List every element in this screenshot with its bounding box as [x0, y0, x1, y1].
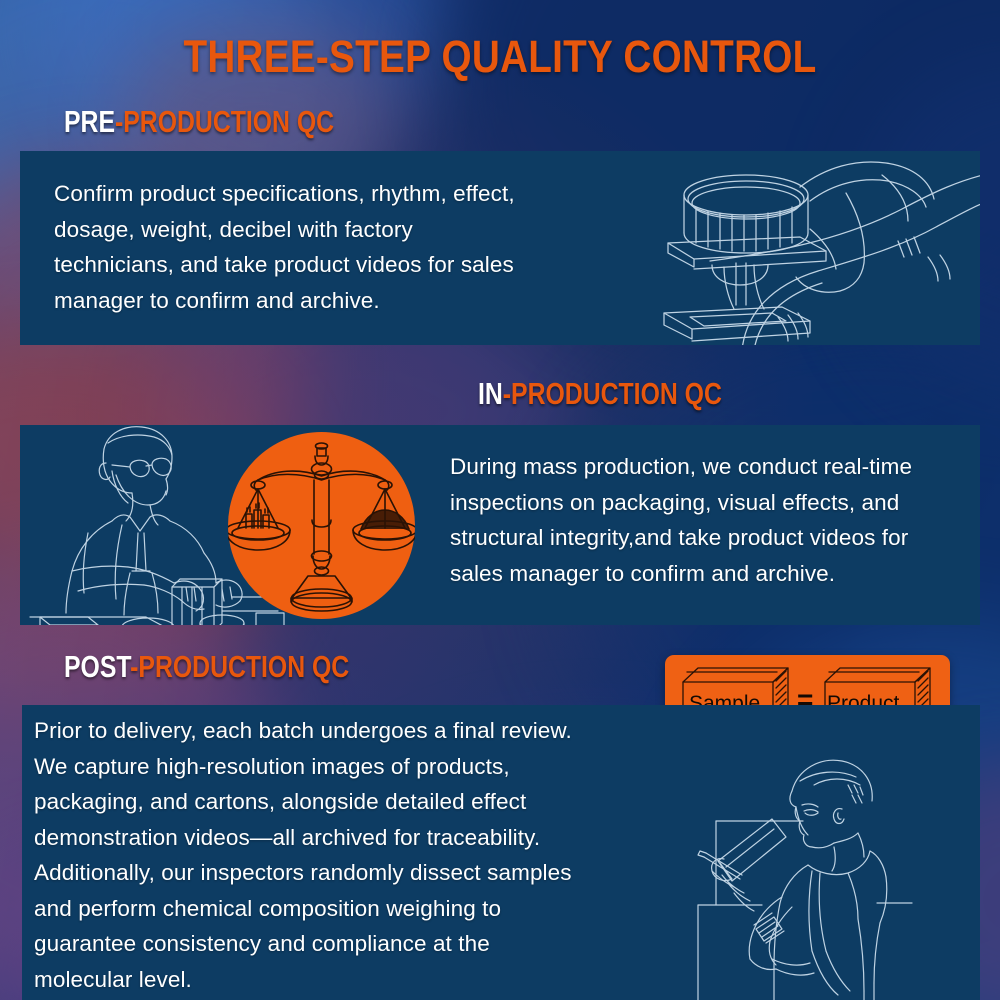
- panel-pre-production: Confirm product specifications, rhythm, …: [20, 151, 980, 345]
- page-title: THREE-STEP QUALITY CONTROL: [70, 34, 930, 79]
- panel-post-production: Prior to delivery, each batch undergoes …: [22, 705, 980, 1000]
- hand-holding-device-icon: [650, 151, 980, 345]
- panel-in-production: During mass production, we conduct real-…: [20, 425, 980, 625]
- panel-pre-production-text: Confirm product specifications, rhythm, …: [54, 176, 614, 318]
- balance-scale-badge: [228, 432, 415, 619]
- section-heading-post-production: POST-PRODUCTION QC: [64, 651, 349, 682]
- inspector-with-clipboard-icon: [662, 747, 980, 1000]
- section-heading-in-production: IN-PRODUCTION QC: [478, 378, 722, 409]
- infographic-canvas: THREE-STEP QUALITY CONTROL PRE-PRODUCTIO…: [0, 0, 1000, 1000]
- balance-scale-icon: [228, 432, 415, 619]
- section-heading-pre-production: PRE-PRODUCTION QC: [64, 106, 334, 137]
- section-heading-prefix: POST: [64, 649, 130, 684]
- panel-in-production-text: During mass production, we conduct real-…: [450, 449, 980, 591]
- section-heading-prefix: PRE: [64, 104, 115, 139]
- panel-post-production-text: Prior to delivery, each batch undergoes …: [34, 713, 664, 997]
- section-heading-prefix: IN: [478, 376, 503, 411]
- section-heading-suffix: -PRODUCTION QC: [115, 104, 334, 139]
- section-heading-suffix: -PRODUCTION QC: [130, 649, 349, 684]
- section-heading-suffix: -PRODUCTION QC: [503, 376, 722, 411]
